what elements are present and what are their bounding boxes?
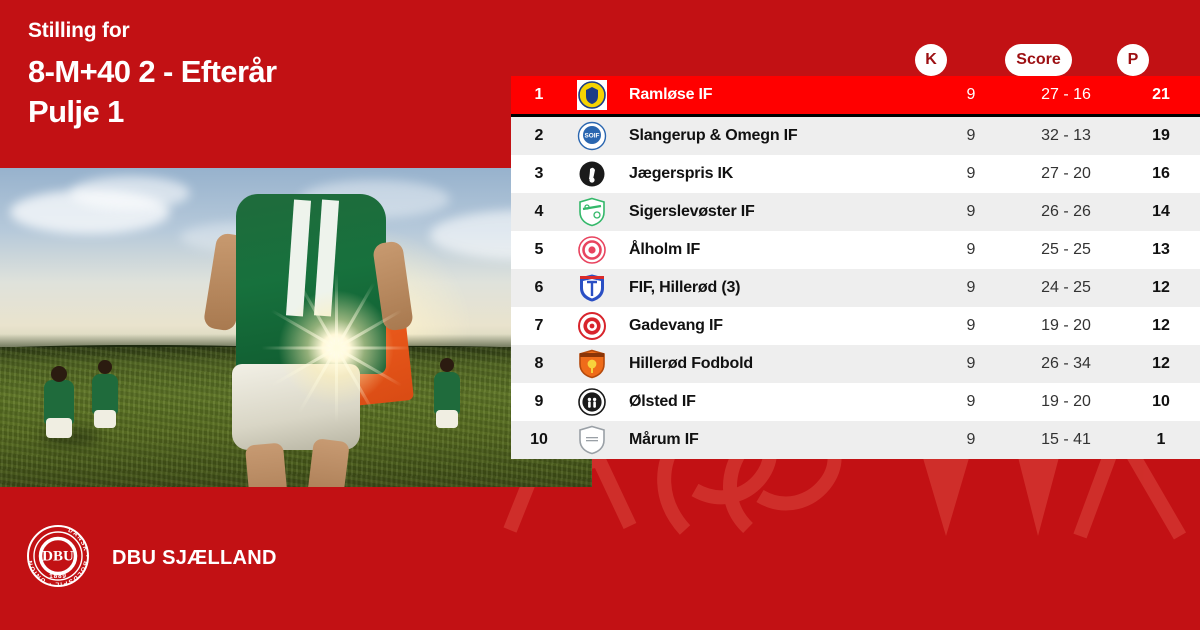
row-score: 19 - 20: [1010, 317, 1122, 335]
sigerslevoster-crest: [567, 197, 617, 227]
row-position: 2: [511, 127, 567, 145]
table-row[interactable]: 10Mårum IF915 - 411: [511, 421, 1200, 459]
row-matches: 9: [932, 165, 1010, 183]
row-team-name: Sigerslevøster IF: [617, 203, 932, 221]
row-score: 24 - 25: [1010, 279, 1122, 297]
row-matches: 9: [932, 355, 1010, 373]
row-position: 7: [511, 317, 567, 335]
row-matches: 9: [932, 431, 1010, 449]
row-position: 6: [511, 279, 567, 297]
row-matches: 9: [932, 279, 1010, 297]
row-position: 5: [511, 241, 567, 259]
row-score: 32 - 13: [1010, 127, 1122, 145]
row-team-name: FIF, Hillerød (3): [617, 279, 932, 297]
row-points: 16: [1122, 165, 1200, 183]
row-team-name: Mårum IF: [617, 431, 932, 449]
table-row[interactable]: 4Sigerslevøster IF926 - 2614: [511, 193, 1200, 231]
row-position: 9: [511, 393, 567, 411]
row-points: 12: [1122, 355, 1200, 373]
table-row[interactable]: 8Hillerød Fodbold926 - 3412: [511, 345, 1200, 383]
page-kicker: Stilling for: [28, 18, 498, 44]
table-row[interactable]: 2SOIFSlangerup & Omegn IF932 - 1319: [511, 117, 1200, 155]
row-score: 26 - 26: [1010, 203, 1122, 221]
row-position: 4: [511, 203, 567, 221]
row-score: 27 - 20: [1010, 165, 1122, 183]
row-score: 15 - 41: [1010, 431, 1122, 449]
row-points: 12: [1122, 317, 1200, 335]
row-points: 21: [1122, 86, 1200, 104]
table-row[interactable]: 9Ølsted IF919 - 2010: [511, 383, 1200, 421]
row-team-name: Ølsted IF: [617, 393, 932, 411]
row-position: 1: [511, 86, 567, 104]
row-matches: 9: [932, 127, 1010, 145]
row-points: 19: [1122, 127, 1200, 145]
column-header-score: Score: [1005, 44, 1072, 76]
dbu-seal-logo: DANSK · BOLDSPIL · UNION DBU 1889: [26, 524, 90, 593]
row-matches: 9: [932, 317, 1010, 335]
row-score: 26 - 34: [1010, 355, 1122, 373]
footer: DANSK · BOLDSPIL · UNION DBU 1889 DBU SJ…: [0, 487, 1200, 630]
row-position: 3: [511, 165, 567, 183]
column-header-matches: K: [915, 44, 947, 76]
hillerod-crest: [567, 349, 617, 379]
row-matches: 9: [932, 203, 1010, 221]
row-points: 14: [1122, 203, 1200, 221]
alholm-crest: [567, 235, 617, 265]
svg-text:SOIF: SOIF: [585, 133, 600, 140]
row-points: 1: [1122, 431, 1200, 449]
row-matches: 9: [932, 86, 1010, 104]
row-team-name: Ålholm IF: [617, 241, 932, 259]
header-block: Stilling for 8-M+40 2 - Efterår Pulje 1: [28, 18, 498, 132]
row-points: 13: [1122, 241, 1200, 259]
column-header-points: P: [1117, 44, 1149, 76]
row-position: 8: [511, 355, 567, 373]
row-matches: 9: [932, 241, 1010, 259]
organisation-name: DBU SJÆLLAND: [112, 547, 277, 570]
svg-text:1889: 1889: [49, 573, 67, 580]
fif-crest: [567, 273, 617, 303]
ramlose-crest: [567, 80, 617, 110]
olsted-crest: [567, 387, 617, 417]
marum-crest: [567, 425, 617, 455]
row-score: 27 - 16: [1010, 86, 1122, 104]
table-row[interactable]: 5Ålholm IF925 - 2513: [511, 231, 1200, 269]
row-points: 12: [1122, 279, 1200, 297]
row-team-name: Slangerup & Omegn IF: [617, 127, 932, 145]
table-column-headers: K Score P: [511, 44, 1200, 76]
jaegerspris-crest: [567, 159, 617, 189]
page-title: 8-M+40 2 - Efterår Pulje 1: [28, 52, 498, 131]
table-row[interactable]: 7Gadevang IF919 - 2012: [511, 307, 1200, 345]
row-points: 10: [1122, 393, 1200, 411]
standings-table: 1Ramløse IF927 - 16212SOIFSlangerup & Om…: [511, 76, 1200, 459]
table-row[interactable]: 3Jægerspris IK927 - 2016: [511, 155, 1200, 193]
football-match-photo: [0, 168, 592, 487]
row-score: 25 - 25: [1010, 241, 1122, 259]
row-score: 19 - 20: [1010, 393, 1122, 411]
svg-text:DBU: DBU: [42, 549, 74, 565]
row-position: 10: [511, 431, 567, 449]
gadevang-crest: [567, 311, 617, 341]
row-team-name: Ramløse IF: [617, 86, 932, 104]
table-row[interactable]: 1Ramløse IF927 - 1621: [511, 76, 1200, 117]
row-team-name: Gadevang IF: [617, 317, 932, 335]
table-row[interactable]: 6FIF, Hillerød (3)924 - 2512: [511, 269, 1200, 307]
row-matches: 9: [932, 393, 1010, 411]
row-team-name: Hillerød Fodbold: [617, 355, 932, 373]
photo-sun-flare: [276, 288, 396, 408]
row-team-name: Jægerspris IK: [617, 165, 932, 183]
slangerup-crest: SOIF: [567, 121, 617, 151]
